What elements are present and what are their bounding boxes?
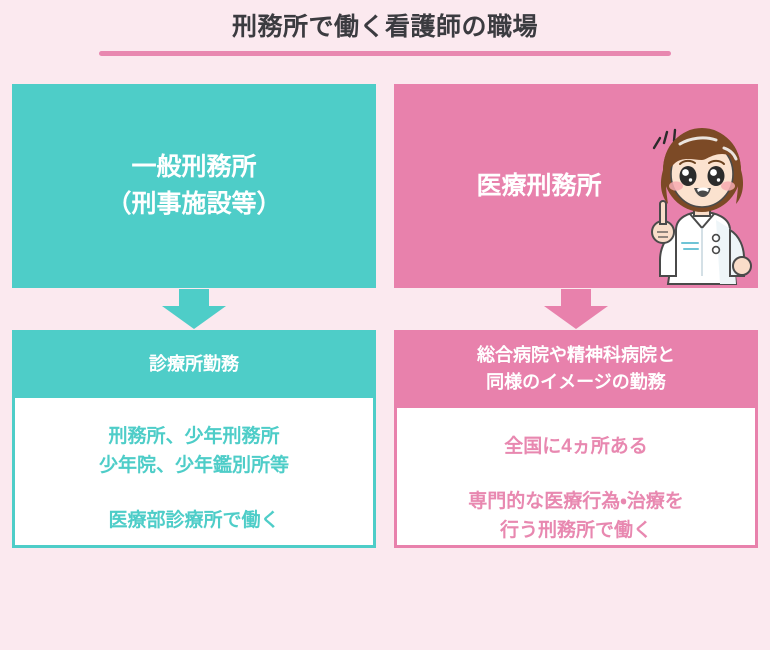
down-arrow-icon [162,289,226,329]
panel-general-prison-heading: 一般刑務所 （刑事施設等） [12,84,376,288]
panel-medical-prison-label: 医療刑務所 [476,168,601,205]
arrow-zone-medical-prison [394,288,758,330]
down-arrow-icon [544,289,608,329]
title-underline-divider [99,51,671,56]
body-card-general-prison: 刑務所、少年刑務所 少年院、少年鑑別所等 医療部診療所で働く [12,398,376,548]
body-line-facilities: 刑務所、少年刑務所 少年院、少年鑑別所等 [99,422,289,480]
body-line-workplace: 医療部診療所で働く [108,506,279,535]
arrow-head [162,306,226,329]
column-medical-prison: 医療刑務所 [394,84,758,548]
header: 刑務所で働く看護師の職場 [0,0,770,56]
body-card-medical-prison: 全国に4ヵ所ある 専門的な医療行為・治療を 行う刑務所で働く [394,408,758,548]
arrow-stem [179,289,209,306]
title-rule-container [0,51,770,56]
panel-medical-prison-heading: 医療刑務所 [394,84,758,288]
subheading-medical-prison: 総合病院や精神科病院と 同様のイメージの勤務 [394,330,758,408]
panel-general-prison-label: 一般刑務所 （刑事施設等） [106,149,281,223]
arrow-head [544,306,608,329]
body-line-count: 全国に4ヵ所ある [504,432,648,461]
column-general-prison: 一般刑務所 （刑事施設等） 診療所勤務 刑務所、少年刑務所 少年院、少年鑑別所等… [12,84,376,548]
nurse-character-icon [646,126,758,288]
comparison-columns: 一般刑務所 （刑事施設等） 診療所勤務 刑務所、少年刑務所 少年院、少年鑑別所等… [12,84,758,548]
page-title: 刑務所で働く看護師の職場 [0,10,770,44]
body-line-workplace: 専門的な医療行為・治療を 行う刑務所で働く [468,487,683,545]
arrow-stem [561,289,591,306]
subheading-general-prison: 診療所勤務 [12,330,376,398]
arrow-zone-general-prison [12,288,376,330]
